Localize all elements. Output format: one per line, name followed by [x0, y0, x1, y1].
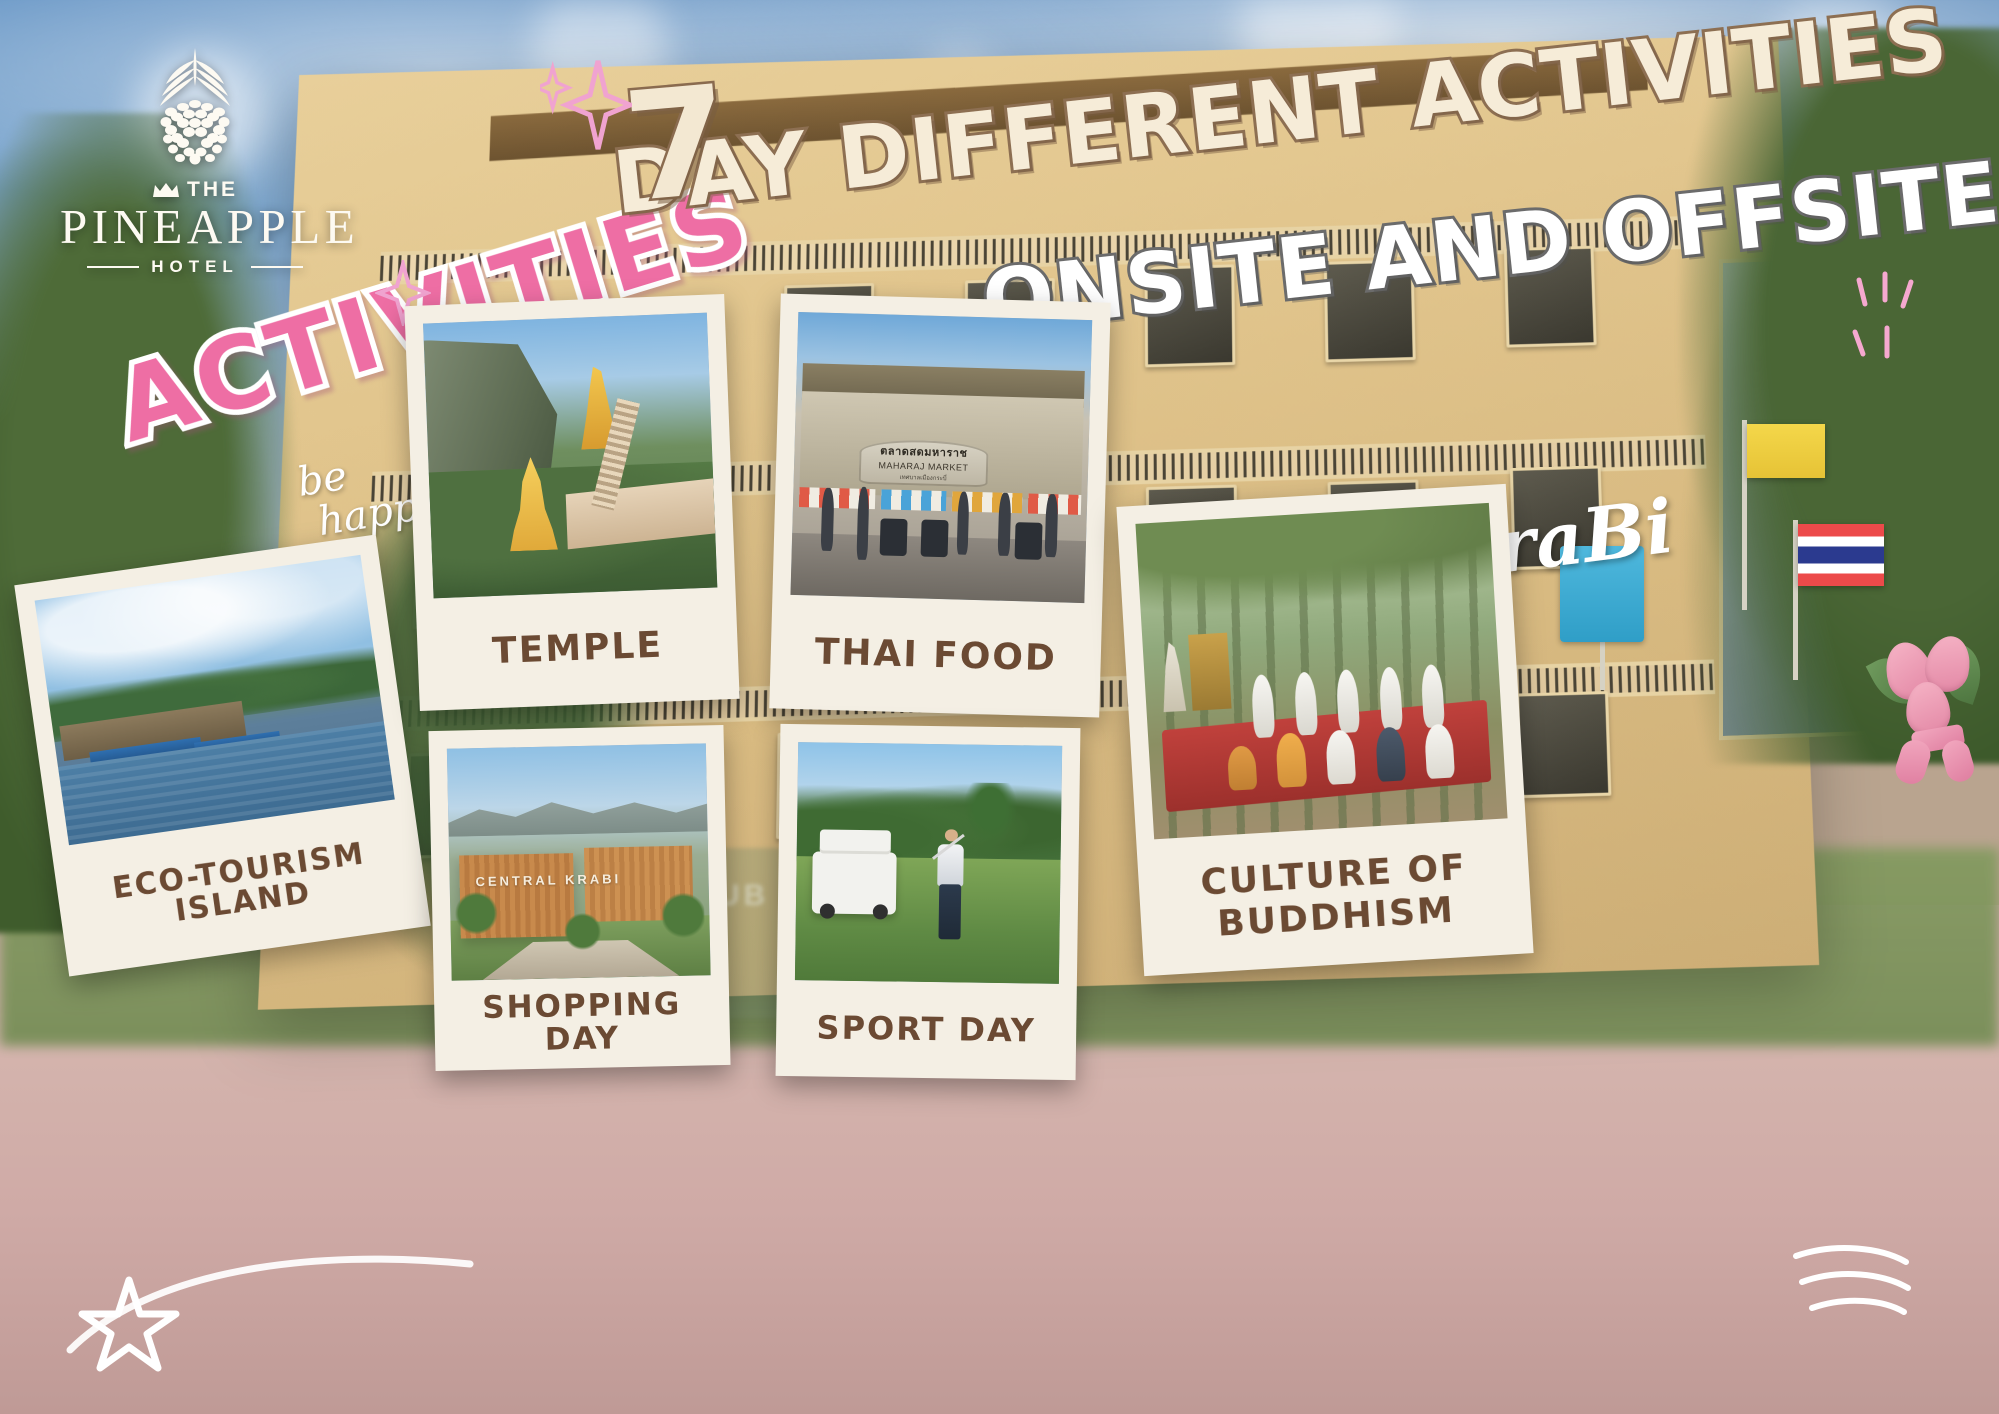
photo-temple — [423, 313, 717, 599]
pineapple-icon — [140, 46, 250, 176]
market-sign-sub: เทศบาลเมืองกระบี่ — [899, 472, 946, 483]
logo-hotel-row: HOTEL — [60, 257, 330, 277]
polaroid-eco-tourism-island[interactable]: ECO-TOURISM ISLAND — [14, 535, 430, 977]
polaroid-shopping-day[interactable]: CENTRAL KRABI SHOPPING DAY — [428, 725, 730, 1071]
headline-number: 7 — [618, 54, 737, 236]
polaroid-sport-day[interactable]: SPORT DAY — [776, 724, 1081, 1080]
market-sign: ตลาดสดมหาราช MAHARAJ MARKET เทศบาลเมืองก… — [858, 438, 989, 487]
caption-shopping-day: SHOPPING DAY — [452, 975, 713, 1070]
rule-left — [87, 266, 139, 268]
sparkle-icon-right — [1845, 270, 1935, 380]
photo-thai-food: ตลาดสดมหาราช MAHARAJ MARKET เทศบาลเมืองก… — [790, 312, 1092, 603]
photo-shopping-day: CENTRAL KRABI — [447, 743, 711, 980]
polaroid-temple[interactable]: TEMPLE — [404, 294, 739, 711]
logo-the-text: THE — [187, 178, 238, 201]
caption-culture-of-buddhism: CULTURE OF BUDDHISM — [1154, 818, 1515, 975]
rule-right — [251, 266, 303, 268]
flag-thai — [1798, 524, 1884, 586]
crown-icon — [152, 182, 180, 198]
star-icon — [74, 1272, 184, 1382]
logo-name: PINEAPPLE — [60, 202, 330, 251]
market-sign-en: MAHARAJ MARKET — [878, 460, 968, 473]
flag-yellow — [1747, 424, 1825, 478]
photo-eco-tourism-island — [35, 555, 395, 845]
logo-hotel-text: HOTEL — [151, 257, 239, 277]
polaroid-thai-food[interactable]: ตลาดสดมหาราช MAHARAJ MARKET เทศบาลเมืองก… — [769, 293, 1110, 717]
brand-logo: THE PINEAPPLE HOTEL — [60, 46, 330, 277]
market-sign-thai: ตลาดสดมหาราช — [880, 441, 968, 461]
caption-temple: TEMPLE — [434, 587, 722, 710]
photo-sport-day — [795, 742, 1062, 984]
polaroid-culture-of-buddhism[interactable]: CULTURE OF BUDDHISM — [1116, 484, 1533, 976]
swoosh-icon-right — [1786, 1238, 1916, 1338]
caption-sport-day: SPORT DAY — [794, 980, 1059, 1080]
photo-culture-of-buddhism — [1135, 503, 1507, 839]
flower-bouquet-decoration — [1868, 636, 1999, 796]
central-krabi-sign: CENTRAL KRABI — [475, 870, 621, 891]
caption-thai-food: THAI FOOD — [787, 595, 1084, 717]
sparkle-icon — [540, 55, 632, 165]
